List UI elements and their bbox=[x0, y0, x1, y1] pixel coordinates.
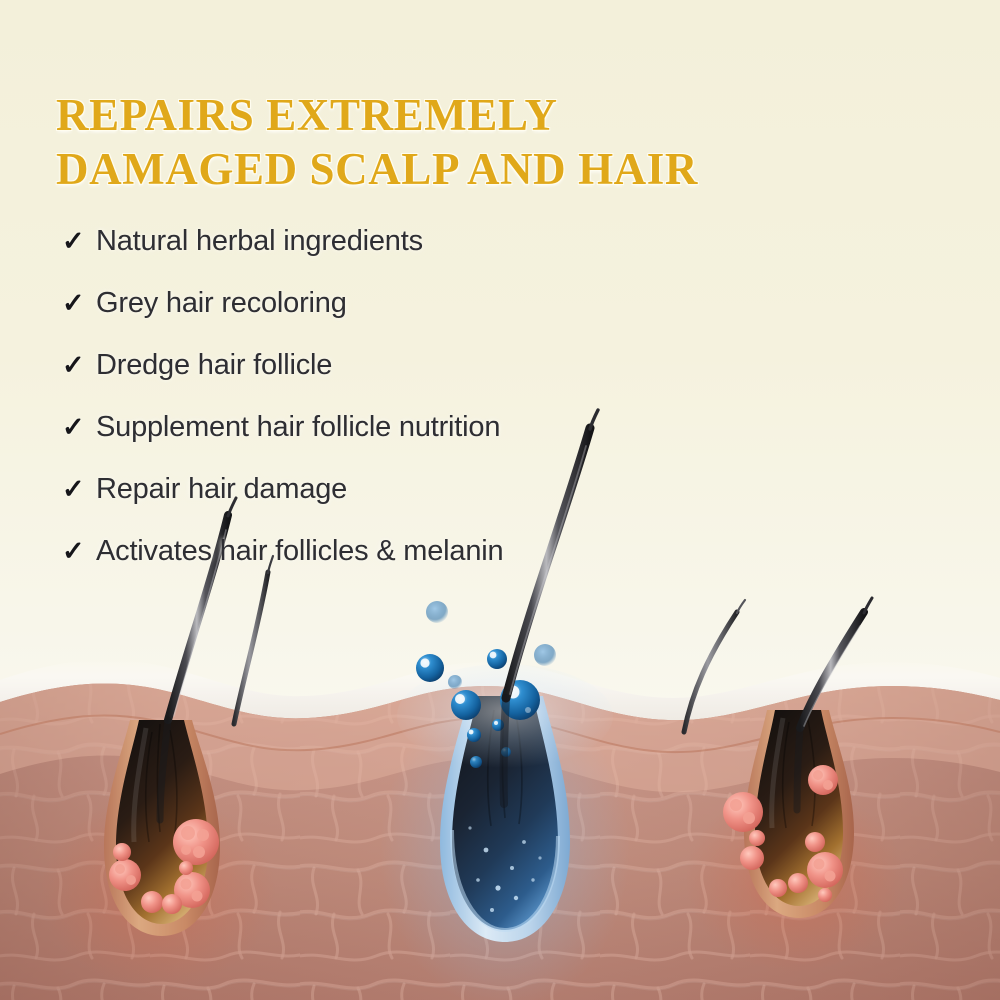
page-title: REPAIRS EXTREMELY DAMAGED SCALP AND HAIR bbox=[56, 88, 916, 196]
check-icon: ✓ bbox=[62, 414, 96, 441]
list-item: ✓ Supplement hair follicle nutrition bbox=[62, 396, 762, 458]
droplet bbox=[416, 654, 444, 682]
droplet bbox=[501, 747, 511, 757]
benefit-label: Activates hair follicles & melanin bbox=[96, 534, 503, 568]
check-icon: ✓ bbox=[62, 538, 96, 565]
benefit-label: Dredge hair follicle bbox=[96, 348, 332, 382]
treated-follicle-center bbox=[380, 664, 630, 1000]
droplet bbox=[451, 690, 481, 720]
droplet bbox=[487, 649, 507, 669]
list-item: ✓ Grey hair recoloring bbox=[62, 272, 762, 334]
droplet bbox=[470, 756, 482, 768]
check-icon: ✓ bbox=[62, 228, 96, 255]
droplet bbox=[500, 680, 540, 720]
benefit-label: Supplement hair follicle nutrition bbox=[96, 410, 500, 444]
benefit-label: Repair hair damage bbox=[96, 472, 347, 506]
check-icon: ✓ bbox=[62, 352, 96, 379]
benefit-label: Grey hair recoloring bbox=[96, 286, 347, 320]
droplet bbox=[467, 728, 481, 742]
droplet bbox=[492, 719, 504, 731]
benefit-label: Natural herbal ingredients bbox=[96, 224, 423, 258]
check-icon: ✓ bbox=[62, 476, 96, 503]
droplet bbox=[426, 601, 448, 623]
check-icon: ✓ bbox=[62, 290, 96, 317]
list-item: ✓ Repair hair damage bbox=[62, 458, 762, 520]
list-item: ✓ Natural herbal ingredients bbox=[62, 210, 762, 272]
list-item: ✓ Dredge hair follicle bbox=[62, 334, 762, 396]
benefit-list: ✓ Natural herbal ingredients ✓ Grey hair… bbox=[62, 210, 762, 582]
droplet bbox=[534, 644, 556, 666]
product-benefit-poster: REPAIRS EXTREMELY DAMAGED SCALP AND HAIR… bbox=[0, 0, 1000, 1000]
list-item: ✓ Activates hair follicles & melanin bbox=[62, 520, 762, 582]
droplet bbox=[448, 675, 462, 689]
